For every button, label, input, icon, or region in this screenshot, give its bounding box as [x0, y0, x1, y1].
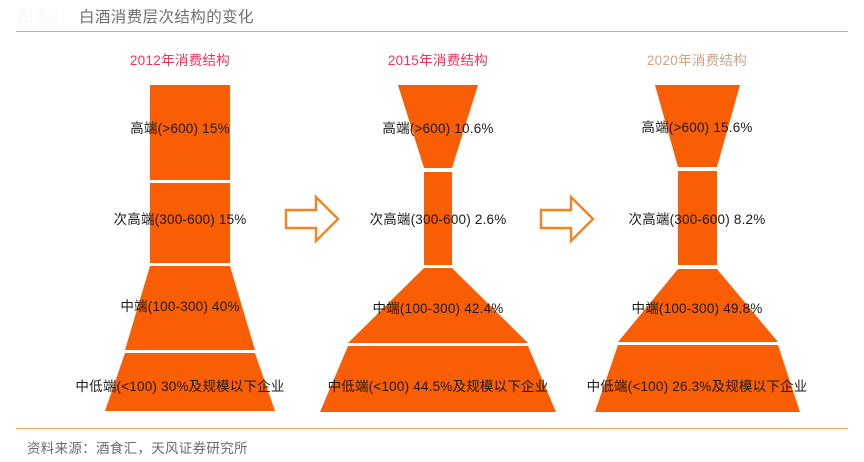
funnel-label-mid-2020: 中端(100-300) 49.8% — [632, 297, 763, 317]
funnel-2020: 2020年消费结构 高端(>600) 15.6% 次高端(300-600) 8.… — [547, 0, 847, 430]
funnel-label-low-2015: 中低端(<100) 44.5%及规模以下企业 — [328, 375, 549, 395]
funnel-label-mid-2012: 中端(100-300) 40% — [120, 295, 239, 315]
source-note: 资料来源：酒食汇，天风证券研究所 — [27, 437, 248, 457]
funnel-label-low-2012: 中低端(<100) 30%及规模以下企业 — [75, 375, 284, 395]
funnel-label-high-2020: 高端(>600) 15.6% — [641, 116, 752, 136]
funnel-label-subhigh-2020: 次高端(300-600) 8.2% — [629, 208, 766, 228]
funnel-label-low-2020: 中低端(<100) 26.3%及规模以下企业 — [587, 375, 808, 395]
funnel-label-high-2015: 高端(>600) 10.6% — [382, 117, 493, 137]
funnel-label-subhigh-2015: 次高端(300-600) 2.6% — [370, 208, 507, 228]
funnel-label-high-2012: 高端(>600) 15% — [130, 117, 230, 137]
slide-figure: 图表2： 白酒消费层次结构的变化 2012年消费结构 高端(>600) 15% … — [0, 0, 864, 462]
funnel-label-subhigh-2012: 次高端(300-600) 15% — [113, 208, 246, 228]
footer-divider — [16, 428, 848, 429]
funnel-label-mid-2015: 中端(100-300) 42.4% — [373, 297, 504, 317]
